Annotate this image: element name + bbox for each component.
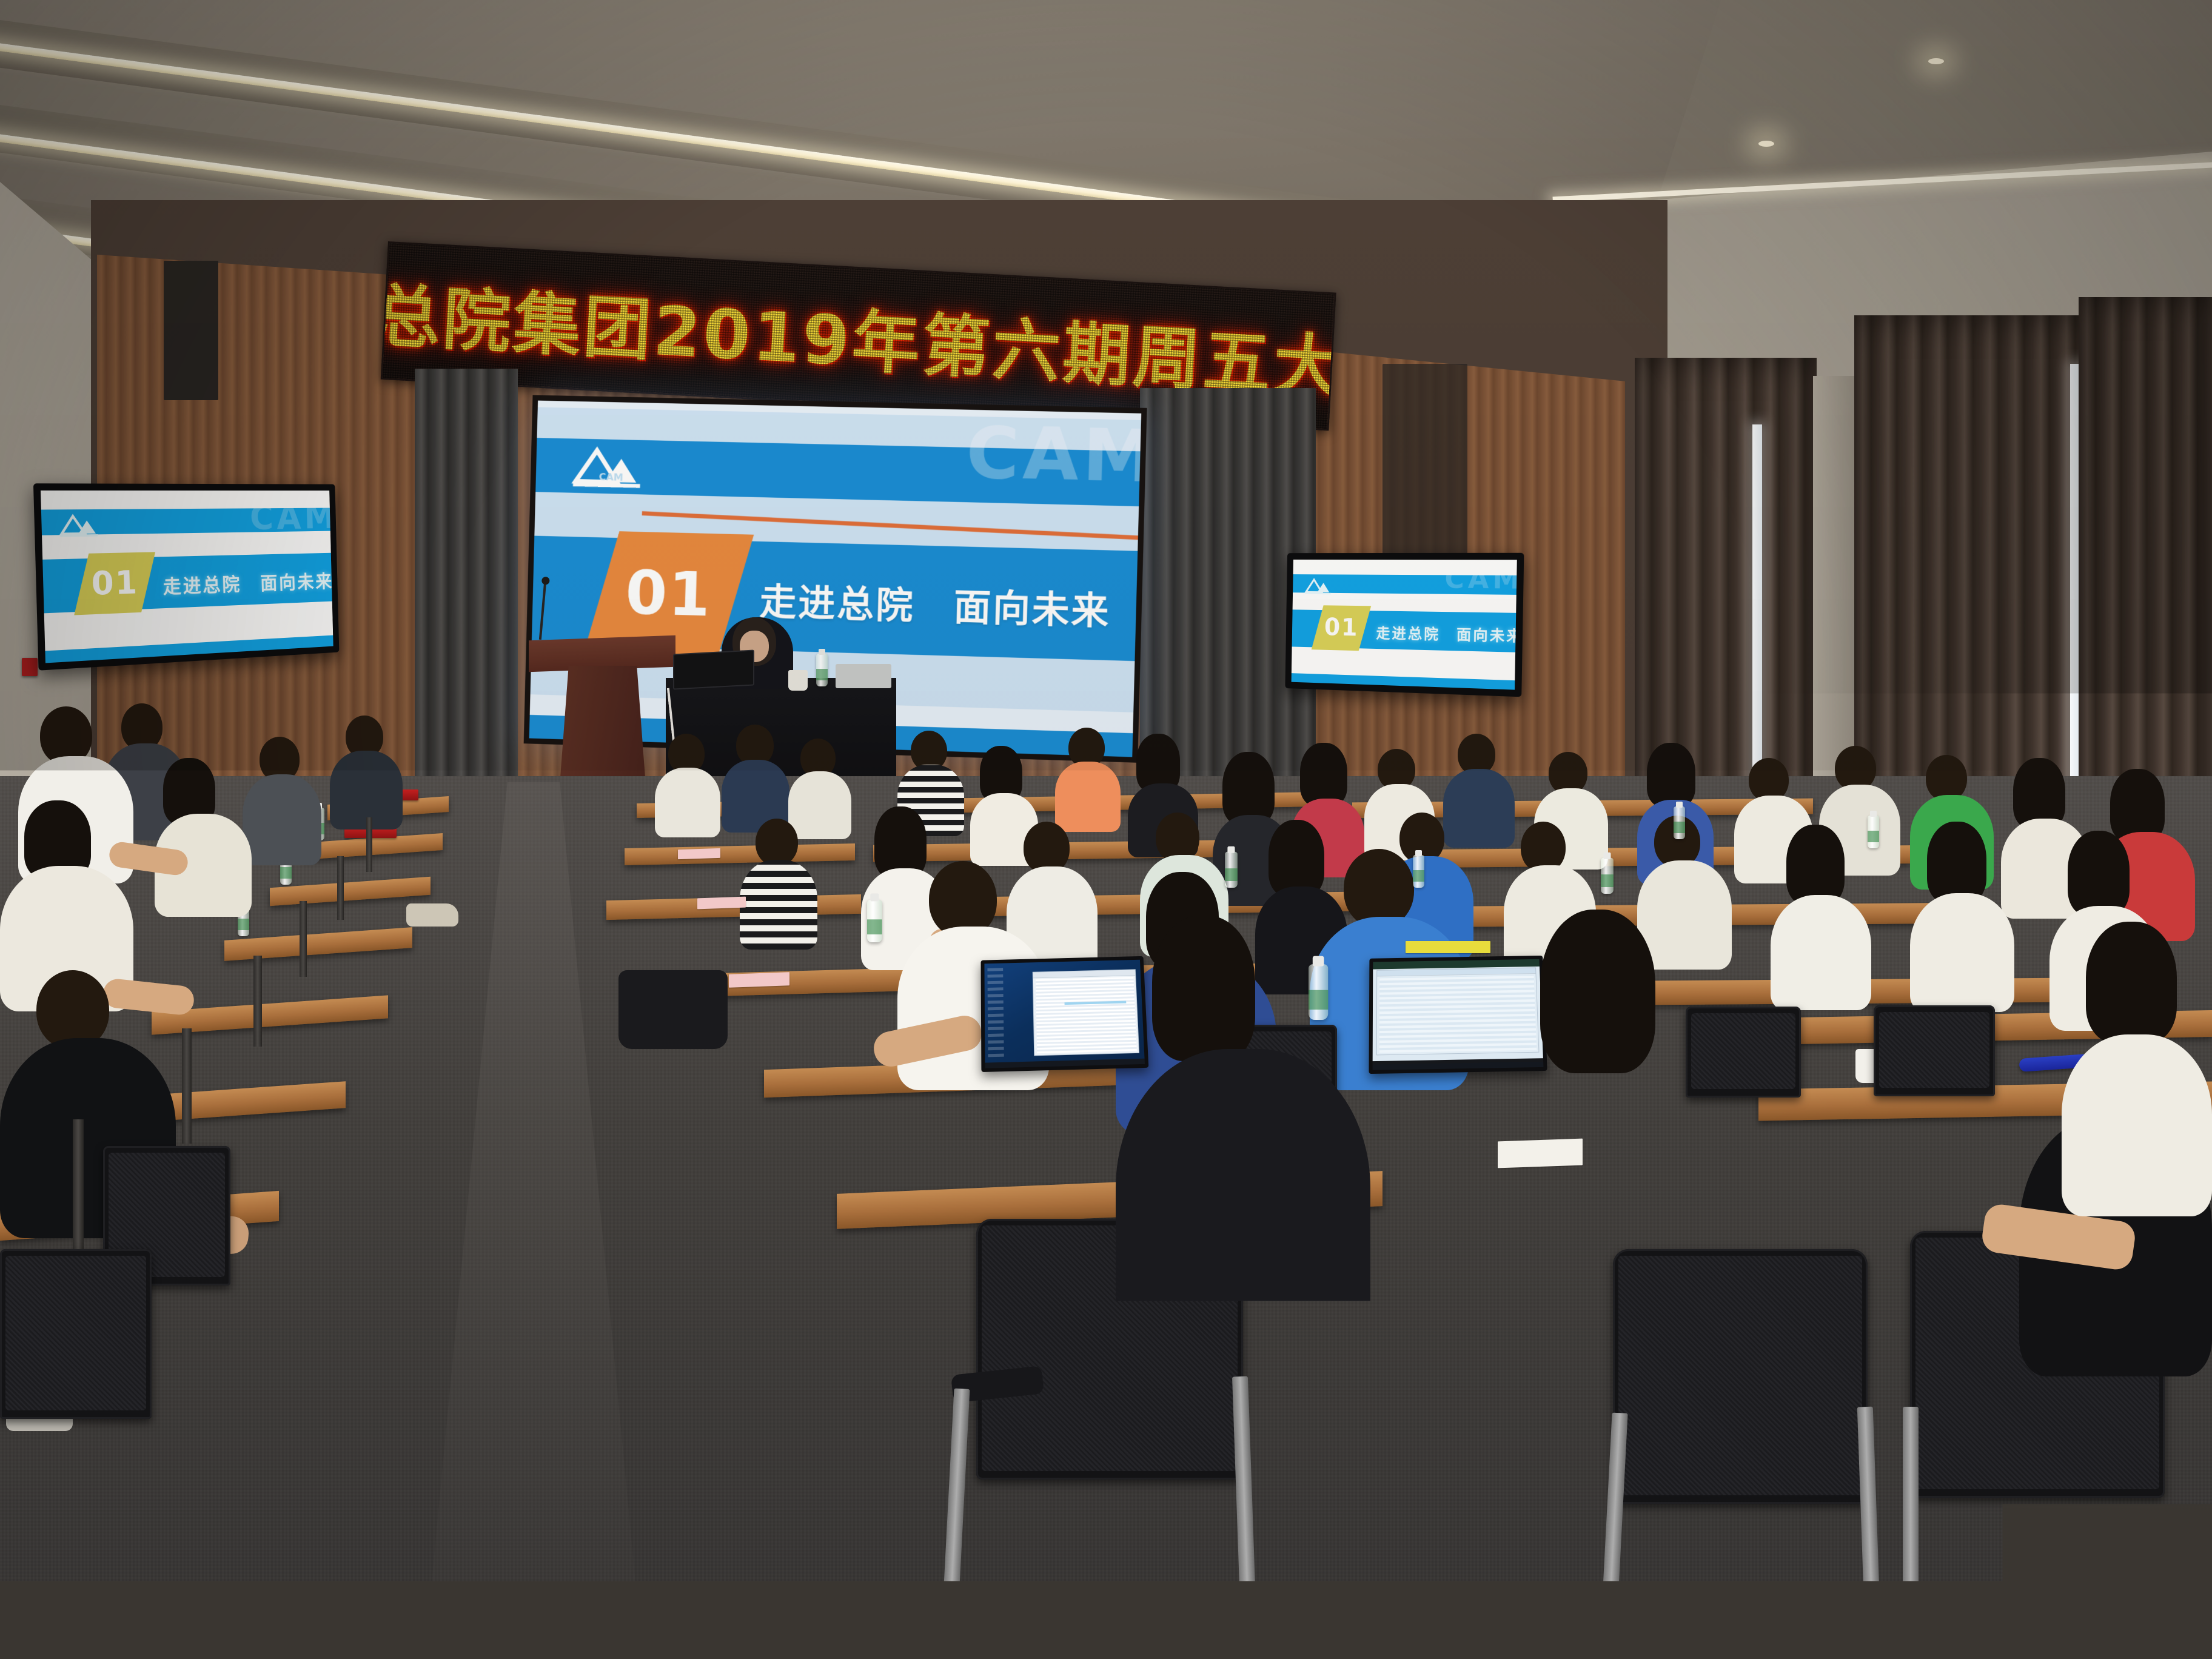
av-control-panel: [836, 664, 891, 688]
water-bottle: [1868, 816, 1879, 848]
file-list: [1036, 977, 1137, 1053]
pink-notepad: [678, 848, 720, 859]
svg-text:CAM: CAM: [598, 471, 623, 483]
slide-title: 走进总院 面向未来: [759, 572, 1111, 635]
spreadsheet-grid: [1379, 975, 1537, 1053]
water-bottle: [1413, 855, 1424, 888]
laptop-screen: [984, 960, 1145, 1068]
right-wall-monitor: CAM 01 走进总院 面向未来: [1285, 553, 1524, 697]
slide-watermark: CAM: [1444, 566, 1517, 594]
slide-watermark: CAM: [249, 500, 333, 534]
desktop-icons: [987, 966, 1004, 1061]
pink-notepad: [697, 897, 746, 910]
stage-curtain-left: [415, 369, 518, 836]
desk-leg: [253, 956, 262, 1047]
slide-section-number: 01: [625, 557, 712, 629]
slide-canvas: CAM 01 走进总院 面向未来: [1292, 560, 1517, 690]
taskbar[interactable]: [1373, 1062, 1544, 1070]
cam-logo-icon: CAM: [569, 432, 648, 504]
cam-logo-icon: [1303, 575, 1333, 598]
water-bottle: [1674, 806, 1685, 839]
water-bottle: [1309, 964, 1328, 1020]
laptop-spreadsheet[interactable]: [1369, 956, 1547, 1074]
chair[interactable]: [0, 1249, 152, 1419]
black-backpack: [618, 970, 728, 1049]
chair[interactable]: [1874, 1005, 1995, 1096]
water-bottle: [1225, 852, 1238, 888]
spreadsheet-window[interactable]: [1376, 967, 1540, 1055]
file-explorer-window[interactable]: [1033, 969, 1139, 1056]
desk-leg: [366, 817, 372, 872]
security-warning-sticker: [1406, 941, 1490, 953]
left-wall-monitor: CAM 01 走进总院 面向未来: [33, 483, 339, 671]
wall-niche: [1382, 364, 1467, 570]
desk-leg: [182, 1028, 192, 1144]
lecture-hall-photo: 机械总院集团2019年第六期周五大讲堂 CAM CAM: [0, 0, 2212, 1659]
laptop-file-explorer[interactable]: [980, 956, 1148, 1072]
water-bottle: [1601, 858, 1614, 894]
pink-notepad: [729, 972, 789, 987]
slide-watermark: CAM: [965, 417, 1141, 493]
taskbar[interactable]: [985, 1059, 1145, 1068]
ceiling-downlight: [1928, 58, 1944, 64]
water-bottle: [816, 654, 828, 686]
slide-section-number: 01: [91, 564, 139, 603]
shoe: [406, 903, 458, 927]
water-bottle: [867, 900, 882, 942]
wall-niche: [164, 261, 218, 400]
cam-logo-icon: [57, 511, 101, 541]
desk-leg: [73, 1119, 84, 1271]
laptop-screen: [1373, 959, 1544, 1070]
slide-canvas: CAM 01 走进总院 面向未来: [41, 491, 333, 663]
slide-section-number: 01: [1324, 614, 1359, 642]
red-emergency-switch[interactable]: [22, 658, 38, 676]
ceiling-downlight: [1758, 141, 1774, 147]
desk-leg: [300, 901, 307, 977]
chair-frame: [1903, 1407, 1919, 1659]
desk-leg: [337, 856, 344, 920]
slide-title: 走进总院 面向未来: [1376, 621, 1517, 645]
presenter-laptop: [673, 649, 754, 689]
tea-cup: [788, 670, 808, 691]
